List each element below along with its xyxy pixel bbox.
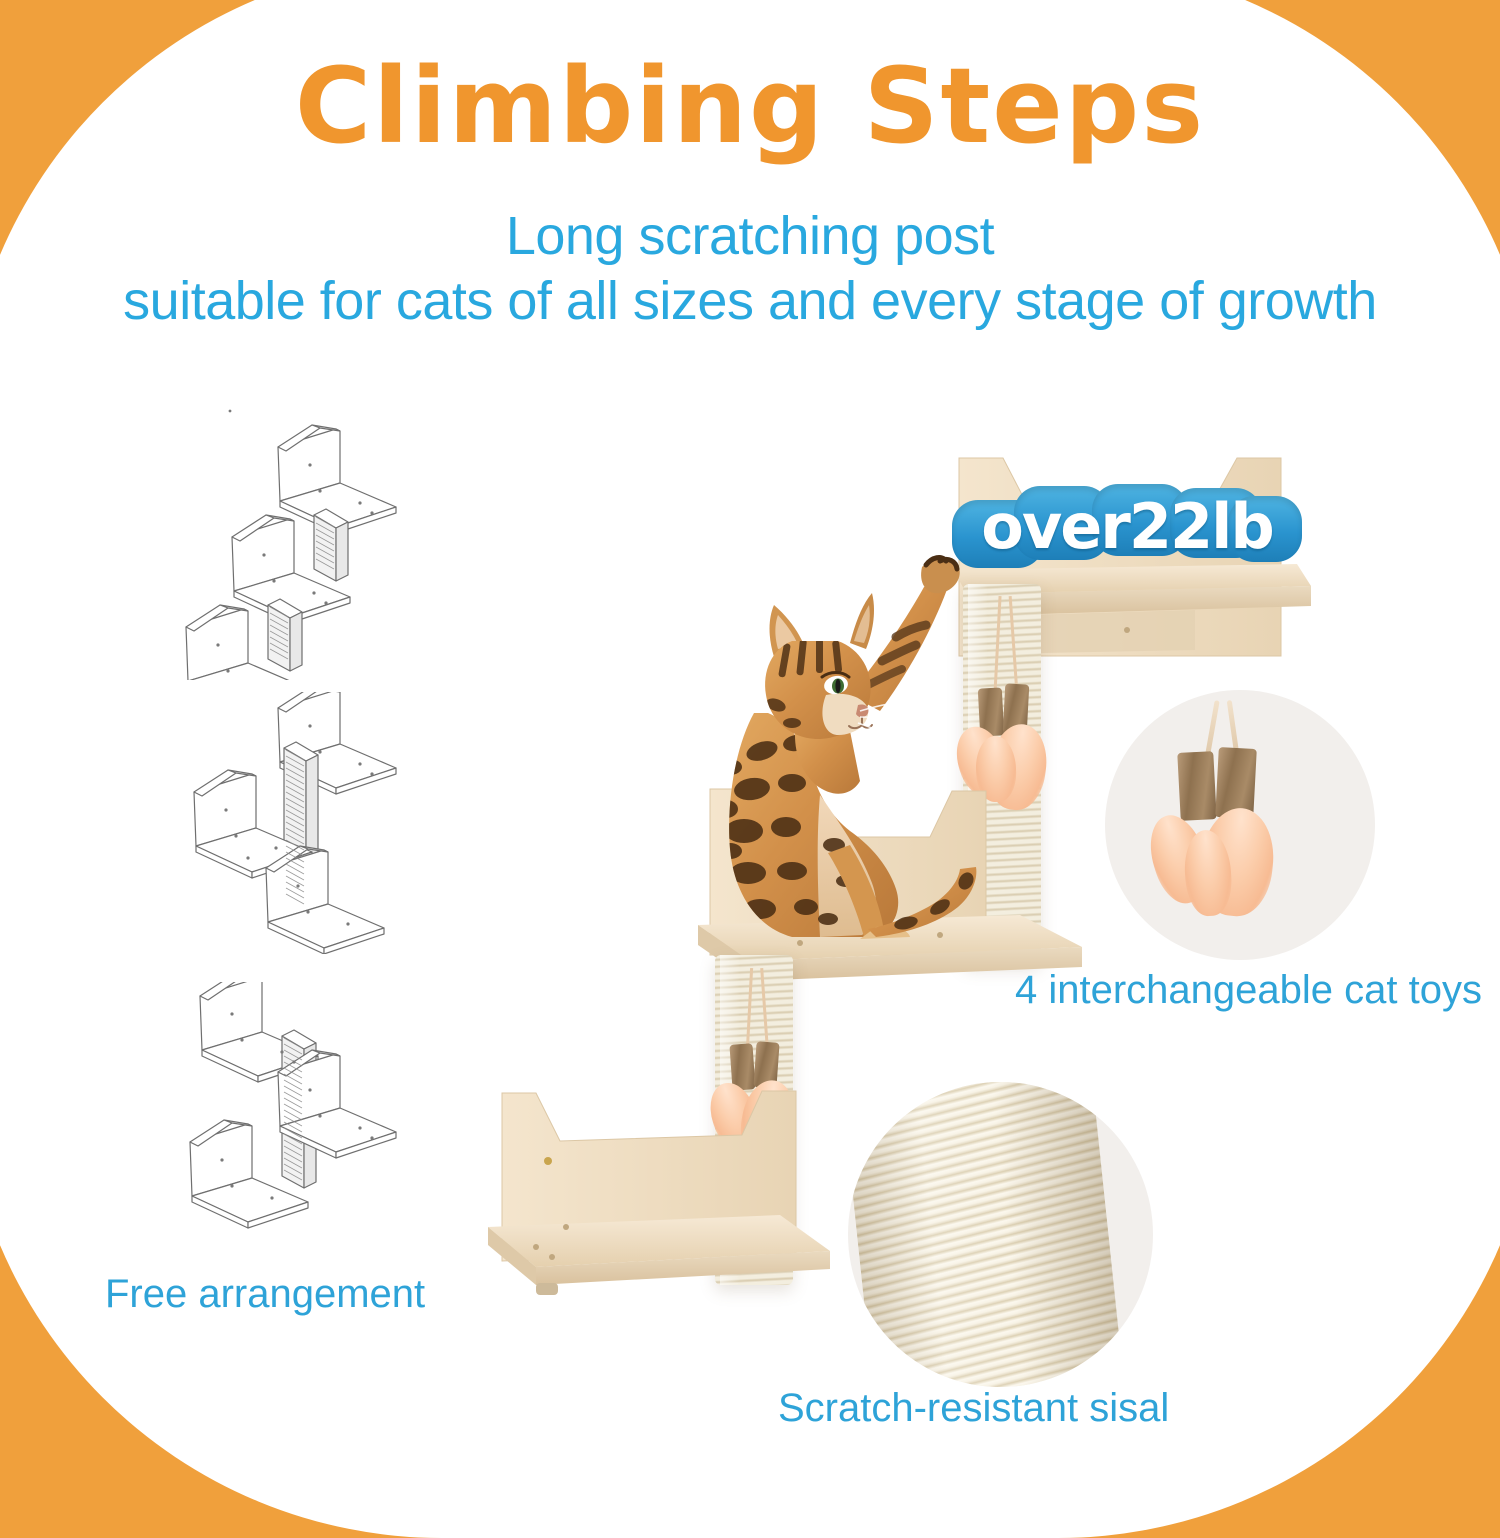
inset-cat-toys [1105, 690, 1375, 960]
weight-badge-text: over22lb [952, 490, 1302, 563]
matatabi-stick-inset-1 [1177, 751, 1217, 821]
inset-sisal [848, 1082, 1153, 1387]
poster-canvas: Climbing Steps Long scratching post suit… [0, 0, 1500, 1500]
caption-cat-toys: 4 interchangeable cat toys [1015, 968, 1482, 1013]
bengal-cat [700, 545, 1000, 965]
weight-badge: over22lb [952, 482, 1302, 570]
shelf-foot [536, 1283, 558, 1295]
sisal-cylinder-shading [848, 1082, 1126, 1387]
bottom-shelf [480, 1075, 840, 1305]
caption-sisal: Scratch-resistant sisal [778, 1386, 1169, 1431]
